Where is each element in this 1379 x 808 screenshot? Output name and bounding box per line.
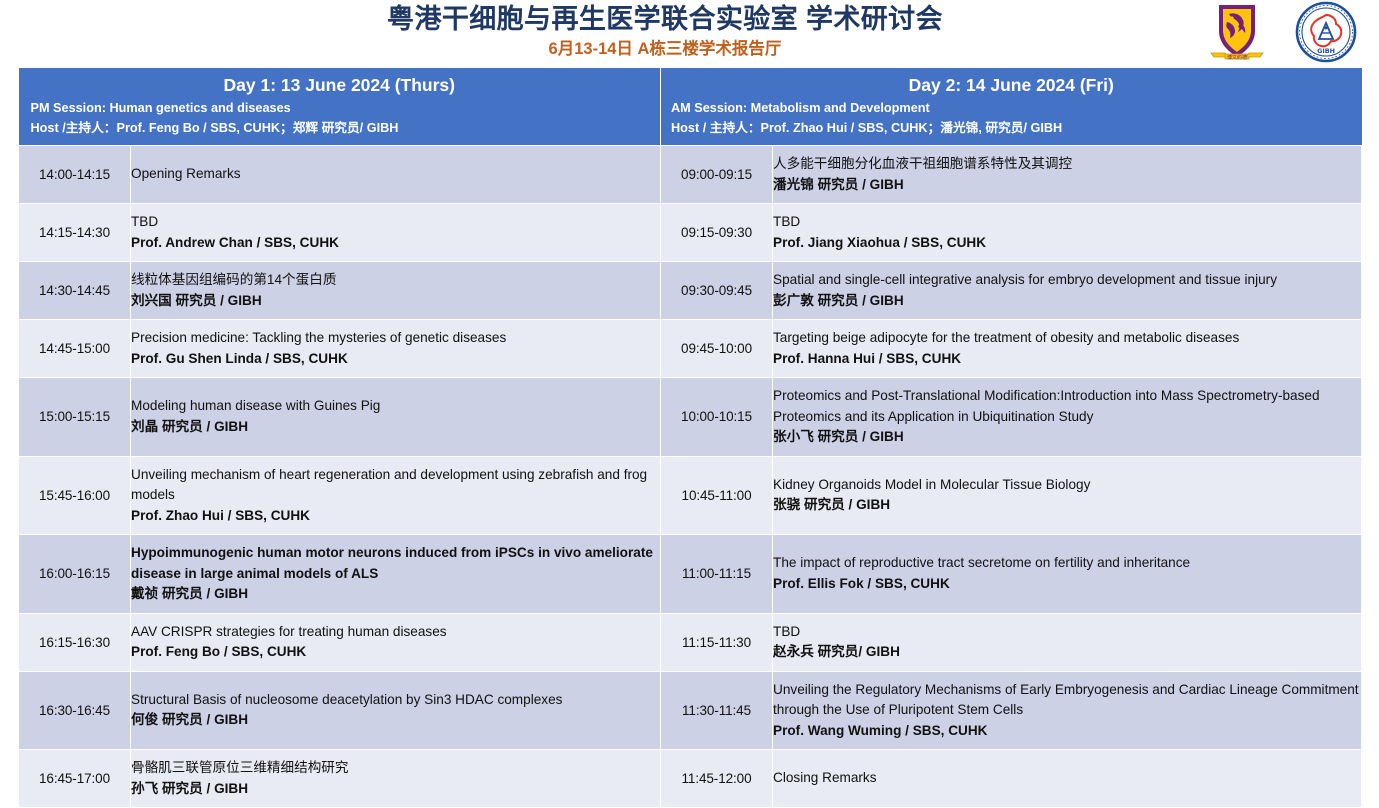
- topic-cell-day1: Structural Basis of nucleosome deacetyla…: [131, 671, 661, 750]
- topic-cell-day1: Hypoimmunogenic human motor neurons indu…: [131, 535, 661, 614]
- gibh-logo: GIBH: [1295, 1, 1357, 68]
- talk-title: Opening Remarks: [131, 164, 660, 185]
- talk-title: 人多能干细胞分化血液干祖细胞谱系特性及其调控: [773, 154, 1361, 175]
- time-cell-day2: 10:00-10:15: [661, 378, 773, 457]
- time-cell-day1: 14:45-15:00: [19, 320, 131, 378]
- talk-speaker: Prof. Wang Wuming / SBS, CUHK: [773, 721, 1361, 742]
- talk-speaker: 赵永兵 研究员/ GIBH: [773, 642, 1361, 663]
- time-cell-day2: 11:15-11:30: [661, 613, 773, 671]
- talk-speaker: 孙飞 研究员 / GIBH: [131, 779, 660, 800]
- topic-cell-day1: Modeling human disease with Guines Pig刘晶…: [131, 378, 661, 457]
- schedule-table: Day 1: 13 June 2024 (Thurs) PM Session: …: [18, 68, 1362, 808]
- talk-title: TBD: [131, 212, 660, 233]
- topic-cell-day2: 人多能干细胞分化血液干祖细胞谱系特性及其调控潘光锦 研究员 / GIBH: [773, 146, 1362, 204]
- time-cell-day1: 15:45-16:00: [19, 456, 131, 535]
- day1-title: Day 1: 13 June 2024 (Thurs): [19, 73, 661, 98]
- talk-speaker: 潘光锦 研究员 / GIBH: [773, 175, 1361, 196]
- day2-host: Host / 主持人：Prof. Zhao Hui / SBS, CUHK；潘光…: [661, 118, 1362, 138]
- topic-cell-day2: The impact of reproductive tract secreto…: [773, 535, 1362, 614]
- talk-speaker: 张小飞 研究员 / GIBH: [773, 427, 1361, 448]
- svg-text:博文約禮: 博文約禮: [1227, 54, 1247, 61]
- table-row: 16:30-16:45Structural Basis of nucleosom…: [19, 671, 1362, 750]
- talk-speaker: 张骁 研究员 / GIBH: [773, 495, 1361, 516]
- table-row: 14:15-14:30TBDProf. Andrew Chan / SBS, C…: [19, 204, 1362, 262]
- topic-cell-day2: Targeting beige adipocyte for the treatm…: [773, 320, 1362, 378]
- talk-speaker: Prof. Andrew Chan / SBS, CUHK: [131, 233, 660, 254]
- time-cell-day1: 16:15-16:30: [19, 613, 131, 671]
- time-cell-day2: 09:15-09:30: [661, 204, 773, 262]
- table-row: 14:00-14:15Opening Remarks09:00-09:15人多能…: [19, 146, 1362, 204]
- title-block: 粤港干细胞与再生医学联合实验室 学术研讨会 6月13-14日 A栋三楼学术报告厅: [0, 0, 1330, 60]
- time-cell-day2: 11:45-12:00: [661, 750, 773, 808]
- talk-title: Unveiling the Regulatory Mechanisms of E…: [773, 680, 1361, 721]
- time-cell-day1: 14:00-14:15: [19, 146, 131, 204]
- talk-title: 骨骼肌三联管原位三维精细结构研究: [131, 758, 660, 779]
- table-row: 16:00-16:15Hypoimmunogenic human motor n…: [19, 535, 1362, 614]
- talk-speaker: Prof. Hanna Hui / SBS, CUHK: [773, 349, 1361, 370]
- topic-cell-day1: Unveiling mechanism of heart regeneratio…: [131, 456, 661, 535]
- day2-header: Day 2: 14 June 2024 (Fri) AM Session: Me…: [661, 68, 1362, 146]
- page-subtitle: 6月13-14日 A栋三楼学术报告厅: [0, 38, 1330, 60]
- time-cell-day1: 15:00-15:15: [19, 378, 131, 457]
- talk-speaker: 戴祯 研究员 / GIBH: [131, 584, 660, 605]
- table-row: 16:45-17:00骨骼肌三联管原位三维精细结构研究孙飞 研究员 / GIBH…: [19, 750, 1362, 808]
- talk-title: AAV CRISPR strategies for treating human…: [131, 622, 660, 643]
- talk-title: 线粒体基因组编码的第14个蛋白质: [131, 270, 660, 291]
- time-cell-day2: 09:45-10:00: [661, 320, 773, 378]
- svg-text:GIBH: GIBH: [1317, 47, 1335, 55]
- topic-cell-day1: TBDProf. Andrew Chan / SBS, CUHK: [131, 204, 661, 262]
- topic-cell-day2: Unveiling the Regulatory Mechanisms of E…: [773, 671, 1362, 750]
- talk-title: Proteomics and Post-Translational Modifi…: [773, 386, 1361, 427]
- table-row: 15:00-15:15Modeling human disease with G…: [19, 378, 1362, 457]
- talk-title: Precision medicine: Tackling the mysteri…: [131, 328, 660, 349]
- day1-host: Host /主持人：Prof. Feng Bo / SBS, CUHK；郑辉 研…: [19, 118, 661, 138]
- time-cell-day2: 09:00-09:15: [661, 146, 773, 204]
- talk-speaker: Prof. Feng Bo / SBS, CUHK: [131, 642, 660, 663]
- day1-header: Day 1: 13 June 2024 (Thurs) PM Session: …: [19, 68, 661, 146]
- table-row: 16:15-16:30AAV CRISPR strategies for tre…: [19, 613, 1362, 671]
- table-header-row: Day 1: 13 June 2024 (Thurs) PM Session: …: [19, 68, 1362, 146]
- talk-speaker: 刘晶 研究员 / GIBH: [131, 417, 660, 438]
- talk-title: Spatial and single-cell integrative anal…: [773, 270, 1361, 291]
- topic-cell-day2: Spatial and single-cell integrative anal…: [773, 262, 1362, 320]
- time-cell-day2: 11:30-11:45: [661, 671, 773, 750]
- topic-cell-day1: Precision medicine: Tackling the mysteri…: [131, 320, 661, 378]
- topic-cell-day2: Closing Remarks: [773, 750, 1362, 808]
- day2-session: AM Session: Metabolism and Development: [661, 98, 1362, 118]
- table-row: 14:30-14:45线粒体基因组编码的第14个蛋白质刘兴国 研究员 / GIB…: [19, 262, 1362, 320]
- logo-group: 博文約禮 GIBH: [1205, 1, 1357, 70]
- talk-title: Modeling human disease with Guines Pig: [131, 396, 660, 417]
- day2-title: Day 2: 14 June 2024 (Fri): [661, 73, 1362, 98]
- talk-title: TBD: [773, 212, 1361, 233]
- time-cell-day2: 10:45-11:00: [661, 456, 773, 535]
- time-cell-day1: 16:45-17:00: [19, 750, 131, 808]
- time-cell-day1: 16:00-16:15: [19, 535, 131, 614]
- topic-cell-day2: TBDProf. Jiang Xiaohua / SBS, CUHK: [773, 204, 1362, 262]
- talk-speaker: 彭广敦 研究员 / GIBH: [773, 291, 1361, 312]
- talk-title: Targeting beige adipocyte for the treatm…: [773, 328, 1361, 349]
- talk-speaker: Prof. Zhao Hui / SBS, CUHK: [131, 506, 660, 527]
- talk-speaker: 刘兴国 研究员 / GIBH: [131, 291, 660, 312]
- topic-cell-day2: Proteomics and Post-Translational Modifi…: [773, 378, 1362, 457]
- topic-cell-day1: 骨骼肌三联管原位三维精细结构研究孙飞 研究员 / GIBH: [131, 750, 661, 808]
- time-cell-day1: 14:30-14:45: [19, 262, 131, 320]
- page-title: 粤港干细胞与再生医学联合实验室 学术研讨会: [0, 0, 1330, 36]
- topic-cell-day1: Opening Remarks: [131, 146, 661, 204]
- schedule-body: 14:00-14:15Opening Remarks09:00-09:15人多能…: [19, 146, 1362, 808]
- talk-title: The impact of reproductive tract secreto…: [773, 553, 1361, 574]
- talk-speaker: Prof. Gu Shen Linda / SBS, CUHK: [131, 349, 660, 370]
- topic-cell-day1: AAV CRISPR strategies for treating human…: [131, 613, 661, 671]
- time-cell-day1: 16:30-16:45: [19, 671, 131, 750]
- page-banner: 粤港干细胞与再生医学联合实验室 学术研讨会 6月13-14日 A栋三楼学术报告厅…: [0, 0, 1379, 68]
- talk-speaker: Prof. Jiang Xiaohua / SBS, CUHK: [773, 233, 1361, 254]
- topic-cell-day2: Kidney Organoids Model in Molecular Tiss…: [773, 456, 1362, 535]
- talk-title: Hypoimmunogenic human motor neurons indu…: [131, 543, 660, 584]
- time-cell-day2: 09:30-09:45: [661, 262, 773, 320]
- talk-title: Structural Basis of nucleosome deacetyla…: [131, 690, 660, 711]
- time-cell-day2: 11:00-11:15: [661, 535, 773, 614]
- topic-cell-day2: TBD赵永兵 研究员/ GIBH: [773, 613, 1362, 671]
- day1-session: PM Session: Human genetics and diseases: [19, 98, 661, 118]
- talk-title: TBD: [773, 622, 1361, 643]
- cuhk-logo: 博文約禮: [1205, 1, 1269, 70]
- talk-speaker: 何俊 研究员 / GIBH: [131, 710, 660, 731]
- table-row: 15:45-16:00Unveiling mechanism of heart …: [19, 456, 1362, 535]
- time-cell-day1: 14:15-14:30: [19, 204, 131, 262]
- table-row: 14:45-15:00Precision medicine: Tackling …: [19, 320, 1362, 378]
- talk-title: Unveiling mechanism of heart regeneratio…: [131, 465, 660, 506]
- talk-title: Closing Remarks: [773, 768, 1361, 789]
- talk-title: Kidney Organoids Model in Molecular Tiss…: [773, 475, 1361, 496]
- topic-cell-day1: 线粒体基因组编码的第14个蛋白质刘兴国 研究员 / GIBH: [131, 262, 661, 320]
- talk-speaker: Prof. Ellis Fok / SBS, CUHK: [773, 574, 1361, 595]
